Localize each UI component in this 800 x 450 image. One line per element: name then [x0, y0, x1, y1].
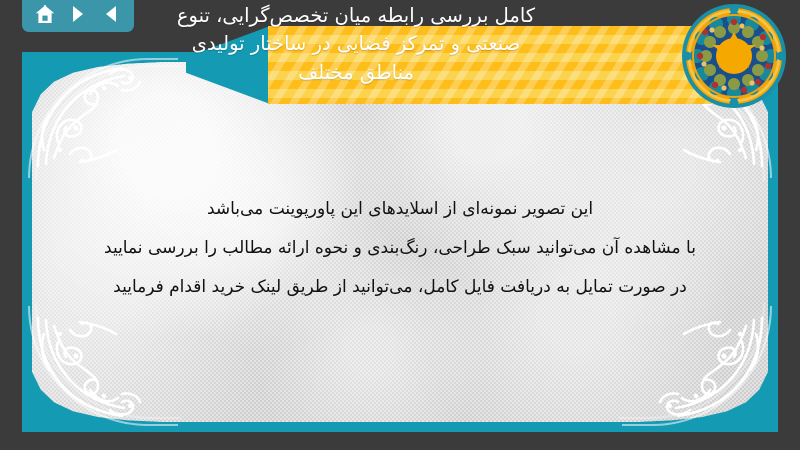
banner-notch-dark	[186, 0, 270, 26]
home-icon	[35, 5, 55, 24]
previous-slide-button[interactable]	[96, 0, 126, 28]
home-button[interactable]	[30, 0, 60, 28]
slide-viewer: این تصویر نمونه‌ای از اسلایدهای این پاور…	[0, 0, 800, 450]
triangle-left-icon	[103, 5, 119, 23]
slide-canvas: این تصویر نمونه‌ای از اسلایدهای این پاور…	[22, 52, 778, 432]
body-line-2: با مشاهده آن می‌توانید سبک طراحی، رنگ‌بن…	[62, 229, 738, 268]
navigation-toolbar	[22, 0, 134, 32]
triangle-right-icon	[70, 5, 86, 23]
body-line-1: این تصویر نمونه‌ای از اسلایدهای این پاور…	[62, 190, 738, 229]
next-slide-button[interactable]	[63, 0, 93, 28]
slide-body-text: این تصویر نمونه‌ای از اسلایدهای این پاور…	[62, 190, 738, 306]
body-line-3: در صورت تمایل به دریافت فایل کامل، می‌تو…	[62, 268, 738, 307]
